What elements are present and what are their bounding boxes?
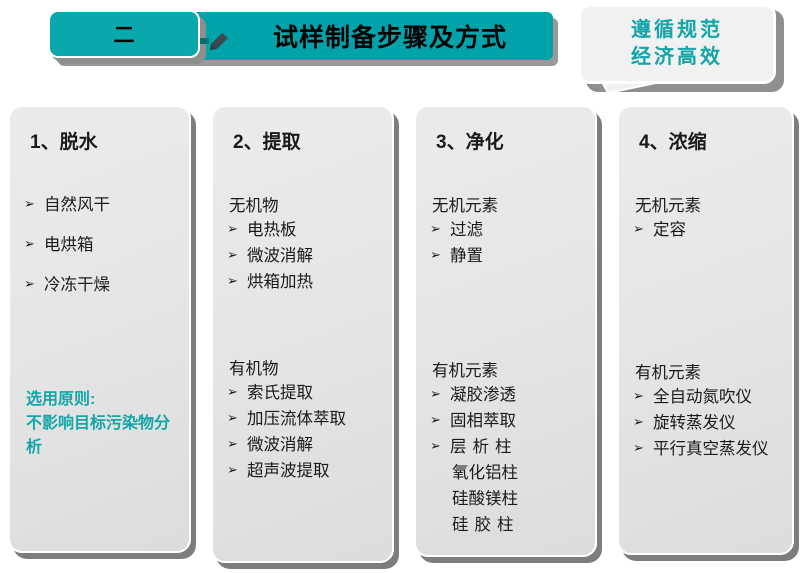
list-item-label: 电热板 xyxy=(247,217,297,243)
list-item[interactable]: ➢ 平行真空蒸发仪 xyxy=(633,436,778,462)
header-band: 试样制备步骤及方式 二 遵循规范 经济高效 xyxy=(0,0,800,100)
step-card-2[interactable]: 2、提取 无机物 ➢ 电热板 ➢ 微波消解 ➢ 烘箱加热 有机物 ➢ 索氏提取 xyxy=(211,105,394,563)
list-item-label: 旋转蒸发仪 xyxy=(653,410,736,436)
list-item[interactable]: ➢ 电热板 xyxy=(227,217,378,243)
bullet-arrow-icon: ➢ xyxy=(24,272,44,296)
bullet-arrow-icon: ➢ xyxy=(24,232,44,256)
group-label: 无机元素 xyxy=(635,192,778,216)
list-item[interactable]: ➢ 全自动氮吹仪 xyxy=(633,384,778,410)
bullet-arrow-icon: ➢ xyxy=(227,458,247,482)
bullet-arrow-icon: ➢ xyxy=(430,434,450,458)
step-card-4[interactable]: 4、浓缩 无机元素 ➢ 定容 有机元素 ➢ 全自动氮吹仪 ➢ 旋转蒸发仪 ➢ 平… xyxy=(617,105,794,555)
list-item-label: 全自动氮吹仪 xyxy=(653,384,752,410)
callout-bubble: 遵循规范 经济高效 xyxy=(578,4,776,84)
list-item[interactable]: ➢ 索氏提取 xyxy=(227,380,378,406)
list-item[interactable]: ➢ 烘箱加热 xyxy=(227,269,378,295)
bullet-arrow-icon: ➢ xyxy=(227,269,247,293)
group-label: 无机物 xyxy=(229,192,378,216)
card-title: 4、浓缩 xyxy=(639,127,778,154)
bullet-arrow-icon: ➢ xyxy=(24,192,44,216)
bullet-arrow-icon: ➢ xyxy=(430,382,450,406)
note-line-2: 不影响目标污染物分 xyxy=(26,412,175,436)
list-item-label: 超声波提取 xyxy=(247,458,330,484)
sub-list-item: 氧化铝柱 xyxy=(430,460,581,486)
list-item-label: 索氏提取 xyxy=(247,380,313,406)
card-group-inorganic: 无机元素 ➢ 定容 xyxy=(633,192,778,243)
bullet-arrow-icon: ➢ xyxy=(227,406,247,430)
list-item-label: 自然风干 xyxy=(44,192,110,218)
list-item-label: 定容 xyxy=(653,217,686,243)
list-item-label: 过滤 xyxy=(450,217,483,243)
list-item[interactable]: ➢ 冷冻干燥 xyxy=(24,272,175,298)
list-item[interactable]: ➢ 凝胶渗透 xyxy=(430,382,581,408)
note-line-1: 选用原则: xyxy=(26,388,175,412)
sub-list-item: 硅酸镁柱 xyxy=(430,486,581,512)
card-group-inorganic: 无机物 ➢ 电热板 ➢ 微波消解 ➢ 烘箱加热 xyxy=(227,192,378,295)
list-item-label: 固相萃取 xyxy=(450,408,516,434)
sub-list-item: 硅胶柱 xyxy=(430,512,581,538)
list-item-label: 加压流体萃取 xyxy=(247,406,346,432)
bullet-arrow-icon: ➢ xyxy=(633,436,653,460)
card-group-organic: 有机元素 ➢ 凝胶渗透 ➢ 固相萃取 ➢ 层析柱 氧化铝柱 硅酸镁柱 硅胶柱 xyxy=(430,357,581,538)
bullet-arrow-icon: ➢ xyxy=(227,432,247,456)
list-item[interactable]: ➢ 自然风干 xyxy=(24,192,175,218)
list-item-label: 烘箱加热 xyxy=(247,269,313,295)
list-item[interactable]: ➢ 过滤 xyxy=(430,217,581,243)
pencil-icon xyxy=(200,30,230,52)
group-label: 无机元素 xyxy=(432,192,581,216)
list-item[interactable]: ➢ 定容 xyxy=(633,217,778,243)
bullet-arrow-icon: ➢ xyxy=(430,408,450,432)
list-item-label: 微波消解 xyxy=(247,243,313,269)
list-item-label: 冷冻干燥 xyxy=(44,272,110,298)
list-item[interactable]: ➢ 旋转蒸发仪 xyxy=(633,410,778,436)
card-title: 2、提取 xyxy=(233,127,378,154)
group-label: 有机物 xyxy=(229,355,378,379)
card-group-inorganic: 无机元素 ➢ 过滤 ➢ 静置 xyxy=(430,192,581,269)
list-item[interactable]: ➢ 静置 xyxy=(430,243,581,269)
list-item-label: 电烘箱 xyxy=(44,232,94,258)
group-label: 有机元素 xyxy=(635,359,778,383)
list-item-label: 凝胶渗透 xyxy=(450,382,516,408)
list-item[interactable]: ➢ 微波消解 xyxy=(227,432,378,458)
list-item[interactable]: ➢ 加压流体萃取 xyxy=(227,406,378,432)
note-line-3: 析 xyxy=(26,436,175,460)
list-item[interactable]: ➢ 层析柱 xyxy=(430,434,581,460)
section-number-badge: 二 xyxy=(48,10,200,58)
bullet-arrow-icon: ➢ xyxy=(633,217,653,241)
bullet-arrow-icon: ➢ xyxy=(227,243,247,267)
bullet-arrow-icon: ➢ xyxy=(227,380,247,404)
list-item[interactable]: ➢ 超声波提取 xyxy=(227,458,378,484)
list-item-label: 静置 xyxy=(450,243,483,269)
list-item-label: 微波消解 xyxy=(247,432,313,458)
card-group: ➢ 自然风干 ➢ 电烘箱 ➢ 冷冻干燥 xyxy=(24,192,175,298)
card-title: 1、脱水 xyxy=(30,127,175,154)
card-group-organic: 有机元素 ➢ 全自动氮吹仪 ➢ 旋转蒸发仪 ➢ 平行真空蒸发仪 xyxy=(633,359,778,462)
bullet-arrow-icon: ➢ xyxy=(430,217,450,241)
step-card-1[interactable]: 1、脱水 ➢ 自然风干 ➢ 电烘箱 ➢ 冷冻干燥 选用原则: 不影响目标污染物分… xyxy=(8,105,191,553)
list-item-label: 平行真空蒸发仪 xyxy=(653,436,769,462)
callout-line-2: 经济高效 xyxy=(631,44,723,71)
list-item-label: 层析柱 xyxy=(450,434,518,460)
bullet-arrow-icon: ➢ xyxy=(430,243,450,267)
bullet-arrow-icon: ➢ xyxy=(633,384,653,408)
step-card-3[interactable]: 3、净化 无机元素 ➢ 过滤 ➢ 静置 有机元素 ➢ 凝胶渗透 ➢ 固相萃取 xyxy=(414,105,597,557)
group-label: 有机元素 xyxy=(432,357,581,381)
callout-line-1: 遵循规范 xyxy=(631,17,723,44)
page-title: 试样制备步骤及方式 xyxy=(235,12,545,60)
list-item[interactable]: ➢ 固相萃取 xyxy=(430,408,581,434)
list-item[interactable]: ➢ 电烘箱 xyxy=(24,232,175,258)
selection-principle-note: 选用原则: 不影响目标污染物分 析 xyxy=(26,388,175,460)
bullet-arrow-icon: ➢ xyxy=(227,217,247,241)
card-group-organic: 有机物 ➢ 索氏提取 ➢ 加压流体萃取 ➢ 微波消解 ➢ 超声波提取 xyxy=(227,355,378,484)
list-item[interactable]: ➢ 微波消解 xyxy=(227,243,378,269)
card-title: 3、净化 xyxy=(436,127,581,154)
bullet-arrow-icon: ➢ xyxy=(633,410,653,434)
